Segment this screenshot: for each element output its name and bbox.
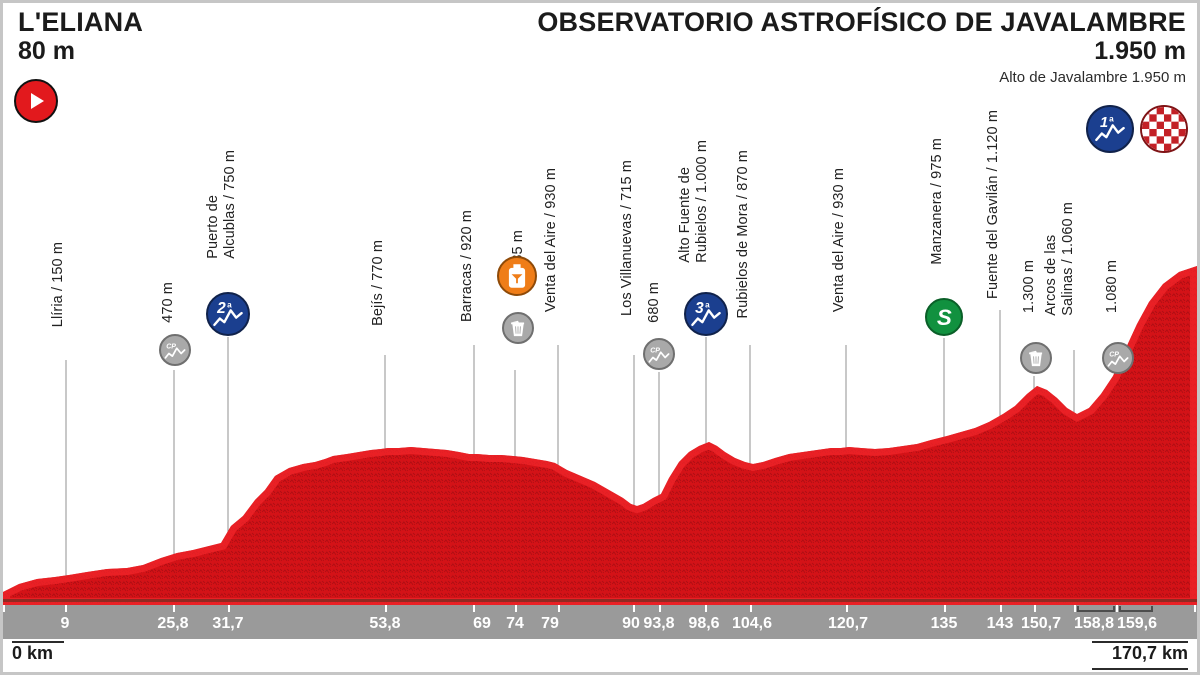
waste-bin-icon [502, 312, 534, 344]
marker-label-alto-fuente-rubielos: Alto Fuente de Rubielos / 1.000 m [677, 140, 711, 263]
terrain-baseline [3, 599, 1197, 602]
svg-text:S: S [937, 305, 952, 330]
marker-label-venta-del-aire-2: Venta del Aire / 930 m [831, 168, 848, 312]
axis-tick [944, 605, 946, 612]
marker-label-venta-del-aire-1: Venta del Aire / 930 m [543, 168, 560, 312]
svg-text:CP: CP [166, 343, 176, 350]
axis-tick [750, 605, 752, 612]
svg-text:CP: CP [650, 347, 660, 354]
svg-text:a: a [227, 301, 232, 310]
axis-tick [659, 605, 661, 612]
axis-tick [3, 605, 5, 612]
axis-bracket [1119, 606, 1153, 612]
axis-tick-label: 31,7 [212, 615, 243, 633]
axis-tick-label: 74 [506, 615, 524, 633]
finish-altitude: 1.950 m [537, 37, 1186, 65]
marker-label-barracas: Barracas / 920 m [459, 210, 476, 322]
axis-tick [1000, 605, 1002, 612]
axis-tick-label: 150,7 [1021, 615, 1061, 633]
svg-text:3: 3 [695, 300, 704, 317]
cp-climb-icon: CP [643, 338, 675, 370]
marker-label-cp-1080: 1.080 m [1104, 260, 1121, 313]
cp-climb-icon: CP [159, 334, 191, 366]
axis-tick-label: 98,6 [688, 615, 719, 633]
axis-tick-label: 79 [541, 615, 559, 633]
start-header: L'ELIANA 80 m [18, 8, 143, 65]
marker-label-manzanera: Manzanera / 975 m [929, 138, 946, 265]
frame-border-top [0, 0, 1200, 3]
axis-tick [846, 605, 848, 612]
svg-text:a: a [705, 301, 710, 310]
axis-tick-label: 135 [931, 615, 958, 633]
mountain-category-2-icon: 2 a [206, 292, 250, 336]
axis-tick [173, 605, 175, 612]
axis-tick-label: 104,6 [732, 615, 772, 633]
axis-tick-label: 9 [61, 615, 70, 633]
axis-tick [633, 605, 635, 612]
sprint-s-icon: S [925, 298, 963, 336]
waste-bin-icon [1020, 342, 1052, 374]
start-city-name: L'ELIANA [18, 8, 143, 37]
axis-tick [473, 605, 475, 612]
marker-label-cp-680: 680 m [646, 282, 663, 323]
svg-text:CP: CP [1109, 351, 1119, 358]
finish-city-name: OBSERVATORIO ASTROFÍSICO DE JAVALAMBRE [537, 8, 1186, 37]
start-play-icon [14, 79, 58, 123]
axis-tick [1074, 605, 1076, 612]
axis-tick-label: 25,8 [157, 615, 188, 633]
axis-tick [228, 605, 230, 612]
finish-header: OBSERVATORIO ASTROFÍSICO DE JAVALAMBRE 1… [537, 8, 1186, 87]
axis-tick-label: 159,6 [1117, 615, 1157, 633]
axis-tick-label: 90 [622, 615, 640, 633]
axis-tick-label: 53,8 [369, 615, 400, 633]
marker-label-puerto-alcublas: Puerto de Alcublas / 750 m [205, 150, 239, 259]
marker-label-fuente-del-gavilan: Fuente del Gavilán / 1.120 m [985, 110, 1002, 299]
axis-tick [1116, 605, 1118, 612]
axis-tick [385, 605, 387, 612]
marker-label-lliria: Llíria / 150 m [50, 242, 67, 327]
axis-tick [705, 605, 707, 612]
marker-label-waste-1300: 1.300 m [1021, 260, 1038, 313]
axis-tick-label: 69 [473, 615, 491, 633]
axis-bracket [1077, 606, 1115, 612]
axis-tick [65, 605, 67, 612]
mountain-category-3-icon: 3 a [684, 292, 728, 336]
stage-profile-page: L'ELIANA 80 m OBSERVATORIO ASTROFÍSICO D… [0, 0, 1200, 675]
marker-label-bejis: Bejís / 770 m [370, 240, 387, 326]
feed-bottle-icon [497, 256, 537, 296]
footer-underline-right [1092, 668, 1188, 670]
axis-tick-label: 120,7 [828, 615, 868, 633]
cp-climb-icon: CP [1102, 342, 1134, 374]
marker-label-cp-470: 470 m [160, 282, 177, 323]
svg-text:2: 2 [216, 300, 226, 317]
axis-tick-label: 158,8 [1074, 615, 1114, 633]
footer-start-km: 0 km [12, 643, 53, 673]
axis-tick-marks [3, 605, 1197, 612]
axis-tick-label: 143 [987, 615, 1014, 633]
axis-tick-label: 93,8 [643, 615, 674, 633]
axis-tick [558, 605, 560, 612]
marker-label-los-villanuevas: Los Villanuevas / 715 m [619, 160, 636, 316]
marker-label-rubielos-de-mora: Rubielos de Mora / 870 m [735, 150, 752, 318]
axis-tick [1194, 605, 1196, 612]
finish-summit-label: Alto de Javalambre 1.950 m [537, 68, 1186, 88]
axis-tick [1034, 605, 1036, 612]
start-altitude: 80 m [18, 37, 143, 65]
axis-tick [515, 605, 517, 612]
marker-label-arcos-de-las-salinas: Arcos de las Salinas / 1.060 m [1043, 202, 1077, 316]
